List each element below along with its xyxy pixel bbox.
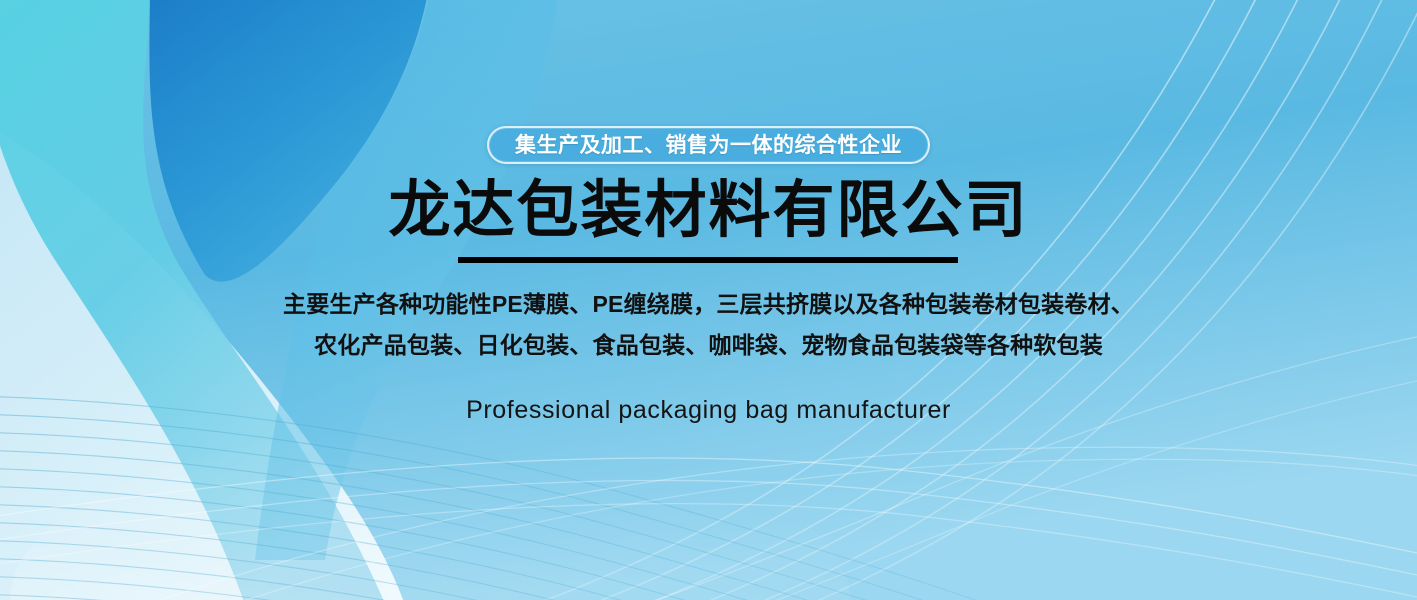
- description-block: 主要生产各种功能性PE薄膜、PE缠绕膜，三层共挤膜以及各种包装卷材包装卷材、 农…: [283, 291, 1134, 358]
- title-underline: [458, 257, 958, 263]
- eyebrow-label: 集生产及加工、销售为一体的综合性企业: [515, 135, 902, 156]
- title-block: 龙达包装材料有限公司: [388, 178, 1028, 263]
- company-title: 龙达包装材料有限公司: [388, 178, 1028, 243]
- banner-content: 集生产及加工、销售为一体的综合性企业 龙达包装材料有限公司 主要生产各种功能性P…: [0, 0, 1417, 600]
- eyebrow-badge: 集生产及加工、销售为一体的综合性企业: [487, 126, 930, 164]
- promo-banner: 集生产及加工、销售为一体的综合性企业 龙达包装材料有限公司 主要生产各种功能性P…: [0, 0, 1417, 600]
- description-line-1: 主要生产各种功能性PE薄膜、PE缠绕膜，三层共挤膜以及各种包装卷材包装卷材、: [283, 291, 1134, 317]
- english-tagline: Professional packaging bag manufacturer: [466, 396, 951, 425]
- description-line-2: 农化产品包装、日化包装、食品包装、咖啡袋、宠物食品包装袋等各种软包装: [314, 332, 1103, 358]
